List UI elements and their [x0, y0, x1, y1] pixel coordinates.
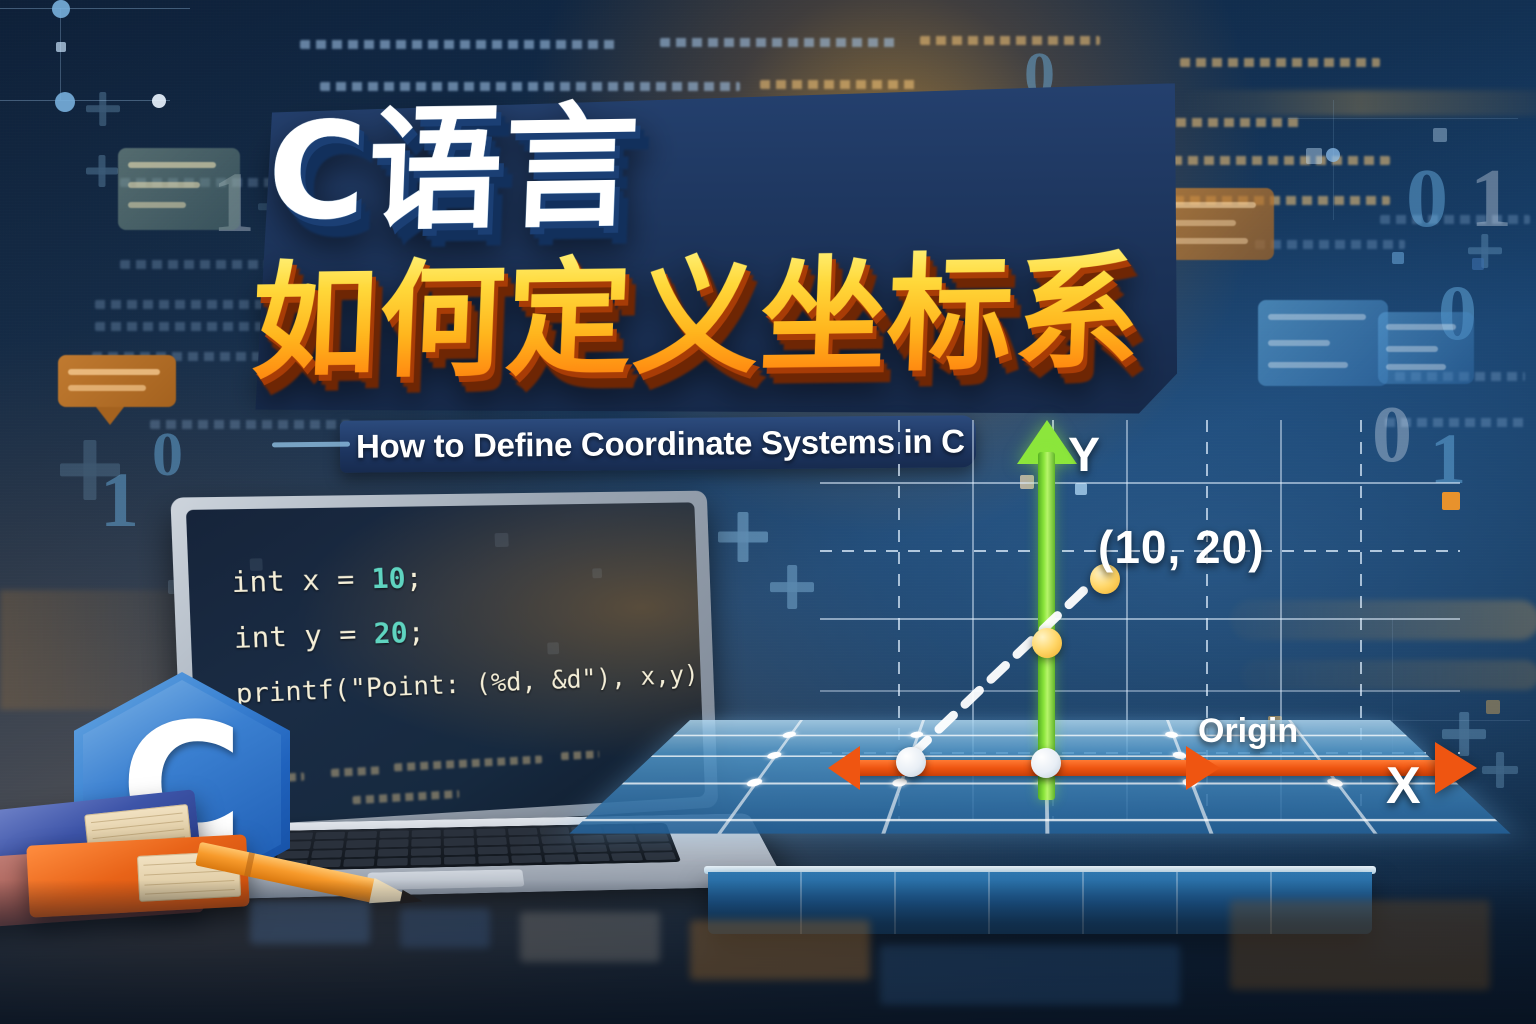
decor-code-line — [95, 322, 275, 331]
decor-line — [0, 8, 190, 9]
code-line-2-pre: int y = — [233, 617, 374, 656]
decor-square — [1472, 258, 1484, 270]
decor-square — [56, 42, 66, 52]
decor-code-line — [300, 40, 620, 49]
desk-reflection — [880, 945, 1180, 1005]
decor-code-line — [660, 38, 900, 47]
decor-code-line — [1180, 58, 1380, 67]
point-origin — [1031, 748, 1061, 778]
decor-node — [52, 0, 70, 18]
plus-icon — [1482, 752, 1518, 788]
decor-panel — [1378, 312, 1474, 384]
x-axis-mid-arrow-icon — [1186, 746, 1220, 790]
decor-digit: 0 — [1406, 150, 1448, 247]
x-axis-left-cap-icon — [828, 746, 860, 790]
desk-reflection — [250, 900, 370, 944]
code-block: int x = 10; int y = 20; printf("Point: (… — [230, 545, 692, 722]
desk-reflection — [520, 912, 660, 962]
decor-node — [1326, 148, 1340, 162]
code-line-1-post: ; — [405, 561, 423, 595]
decor-panel — [118, 148, 240, 230]
x-axis-label: X — [1386, 756, 1421, 816]
desk-reflection — [1230, 900, 1490, 990]
plus-icon — [60, 440, 120, 500]
decor-warm-band — [1180, 90, 1536, 116]
projection-dashed-line — [905, 562, 1155, 762]
code-line-2-post: ; — [407, 615, 425, 649]
subtitle-dash — [272, 442, 350, 448]
point-y-projection — [1032, 628, 1062, 658]
subtitle-chinese: 如何定义坐标系 — [249, 239, 1196, 400]
decor-line — [1288, 118, 1518, 119]
point-coordinate-label: (10, 20) — [1098, 520, 1265, 574]
decor-node — [152, 94, 166, 108]
plus-icon — [86, 92, 120, 126]
code-line-2-number: 20 — [373, 616, 408, 650]
decor-digit: 1 — [1470, 150, 1512, 247]
decor-line — [0, 100, 170, 101]
desk-reflection — [690, 920, 870, 980]
decor-callout — [58, 355, 176, 407]
decor-square — [1392, 252, 1404, 264]
poster-canvas: 1 1 0 0 0 1 0 0 1 — [0, 0, 1536, 1024]
decor-square — [1433, 128, 1447, 142]
y-axis-label: Y — [1068, 428, 1100, 483]
decor-square — [1486, 700, 1500, 714]
plus-icon — [86, 155, 118, 187]
decor-line — [60, 8, 61, 100]
decor-digit: 0 — [152, 420, 183, 491]
page-title: C语言 — [264, 76, 1171, 259]
decor-square — [1306, 148, 1322, 164]
decor-code-line — [1255, 240, 1405, 249]
desk-reflection — [400, 908, 490, 948]
decor-panel — [1258, 300, 1388, 386]
decor-node — [55, 92, 75, 112]
x-axis-arrow-icon — [1435, 742, 1477, 794]
point-x-projection — [896, 747, 926, 777]
code-line-1-number: 10 — [371, 561, 406, 595]
decor-code-line — [920, 36, 1100, 45]
origin-label: Origin — [1198, 712, 1298, 751]
x-axis-line — [850, 760, 1450, 776]
